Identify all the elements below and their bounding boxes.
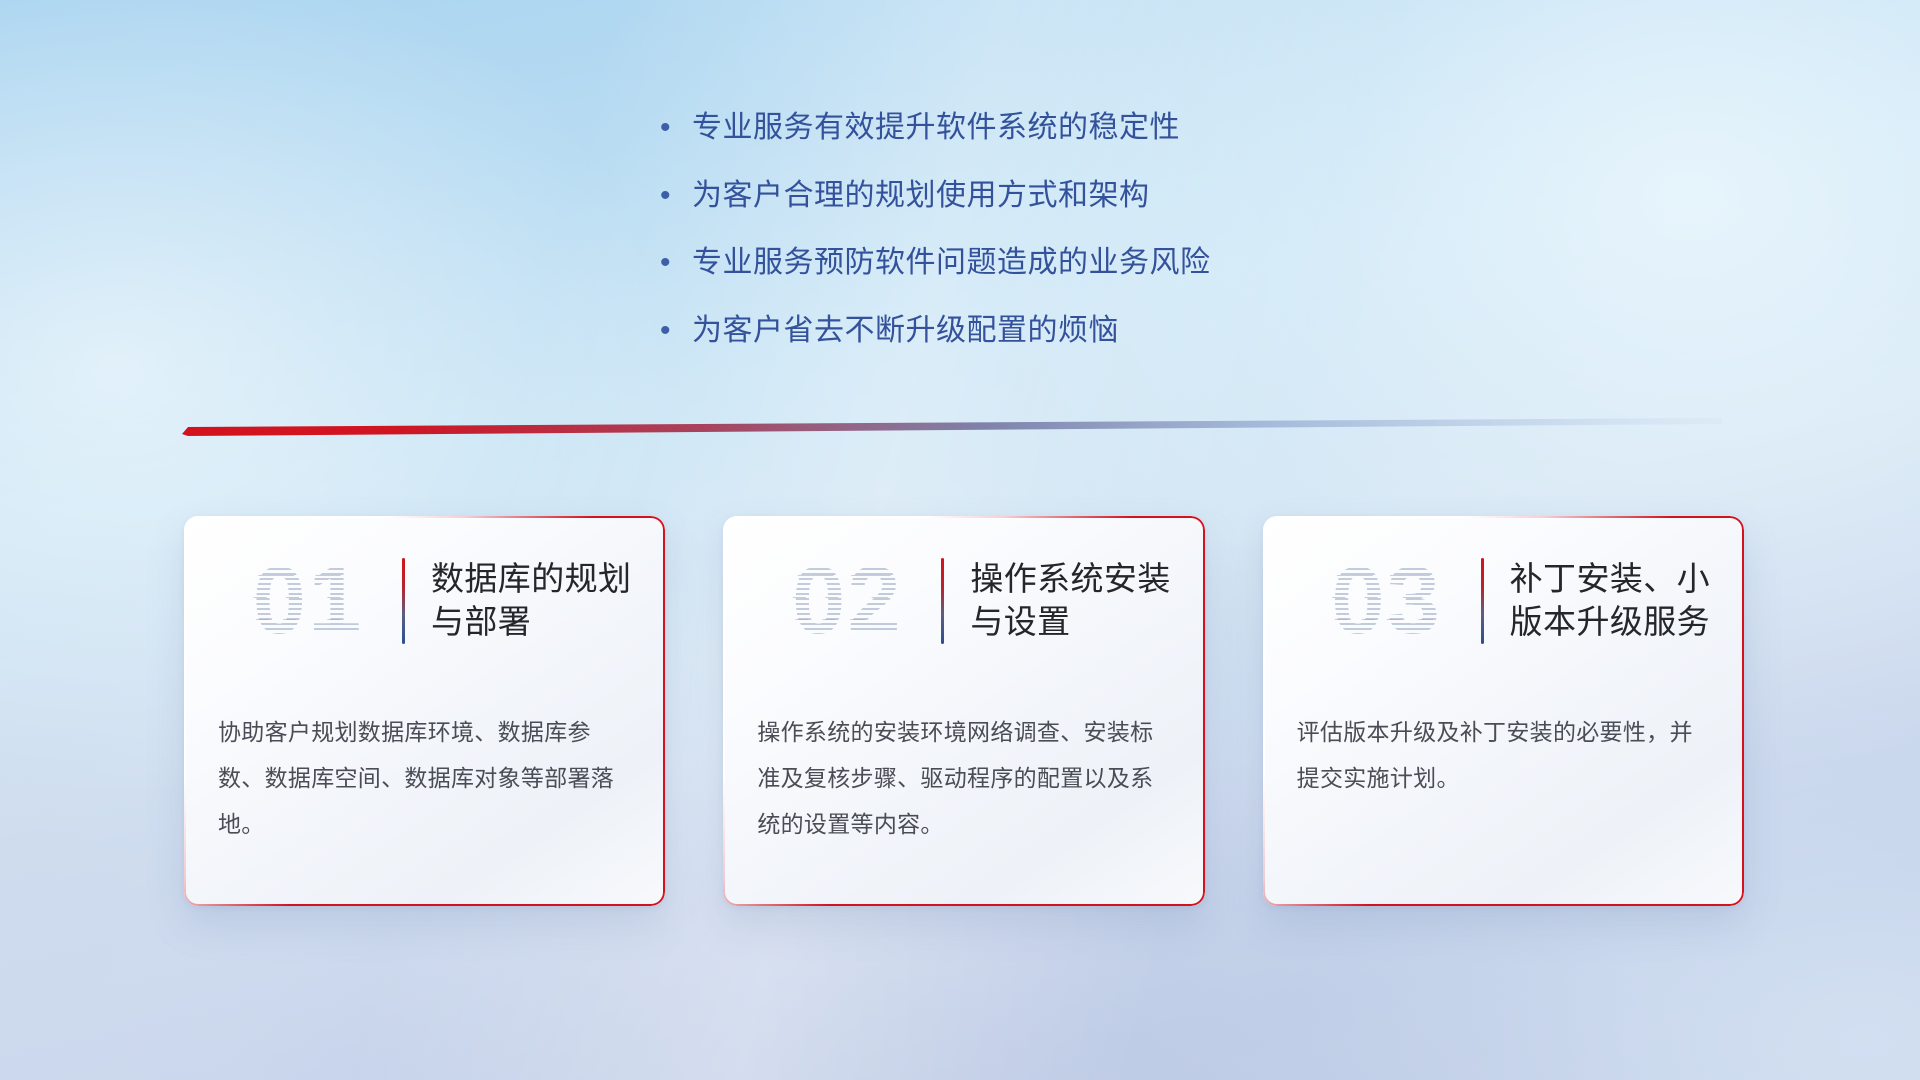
bullet-dot-icon: • — [660, 113, 692, 143]
card-description: 协助客户规划数据库环境、数据库参数、数据库空间、数据库对象等部署落地。 — [184, 687, 665, 847]
bullet-text: 专业服务有效提升软件系统的稳定性 — [692, 108, 1180, 149]
bullet-dot-icon: • — [660, 316, 692, 346]
list-item: • 为客户合理的规划使用方式和架构 — [660, 176, 1480, 217]
service-card[interactable]: 02 操作系统安装与设置 操作系统的安装环境网络调查、安装标准及复核步骤、驱动程… — [723, 516, 1204, 906]
bullet-text: 为客户合理的规划使用方式和架构 — [692, 176, 1150, 217]
card-title-rule — [402, 558, 405, 644]
service-card-row: 01 数据库的规划与部署 协助客户规划数据库环境、数据库参数、数据库空间、数据库… — [184, 516, 1744, 916]
list-item: • 专业服务预防软件问题造成的业务风险 — [660, 243, 1480, 284]
bullet-dot-icon: • — [660, 181, 692, 211]
bullet-text: 专业服务预防软件问题造成的业务风险 — [692, 243, 1211, 284]
card-header: 01 数据库的规划与部署 — [184, 516, 665, 686]
card-title-rule — [1481, 558, 1484, 644]
card-description: 评估版本升级及补丁安装的必要性，并提交实施计划。 — [1263, 687, 1744, 801]
section-divider — [182, 418, 1722, 440]
bullet-text: 为客户省去不断升级配置的烦恼 — [692, 311, 1119, 352]
card-title: 补丁安装、小版本升级服务 — [1510, 558, 1742, 644]
card-number: 03 — [1295, 553, 1479, 649]
list-item: • 专业服务有效提升软件系统的稳定性 — [660, 108, 1480, 149]
card-description: 操作系统的安装环境网络调查、安装标准及复核步骤、驱动程序的配置以及系统的设置等内… — [723, 687, 1204, 847]
card-title-rule — [941, 558, 944, 644]
list-item: • 为客户省去不断升级配置的烦恼 — [660, 311, 1480, 352]
tapered-rule-icon — [182, 418, 1722, 440]
service-card[interactable]: 03 补丁安装、小版本升级服务 评估版本升级及补丁安装的必要性，并提交实施计划。 — [1263, 516, 1744, 906]
benefits-bullet-list: • 专业服务有效提升软件系统的稳定性 • 为客户合理的规划使用方式和架构 • 专… — [660, 108, 1480, 378]
card-number: 01 — [216, 553, 400, 649]
card-title: 数据库的规划与部署 — [431, 558, 663, 644]
card-number: 02 — [755, 553, 939, 649]
card-title: 操作系统安装与设置 — [970, 558, 1202, 644]
bullet-dot-icon: • — [660, 248, 692, 278]
service-card[interactable]: 01 数据库的规划与部署 协助客户规划数据库环境、数据库参数、数据库空间、数据库… — [184, 516, 665, 906]
card-header: 02 操作系统安装与设置 — [723, 516, 1204, 686]
slide-canvas: • 专业服务有效提升软件系统的稳定性 • 为客户合理的规划使用方式和架构 • 专… — [0, 0, 1920, 1080]
card-header: 03 补丁安装、小版本升级服务 — [1263, 516, 1744, 686]
